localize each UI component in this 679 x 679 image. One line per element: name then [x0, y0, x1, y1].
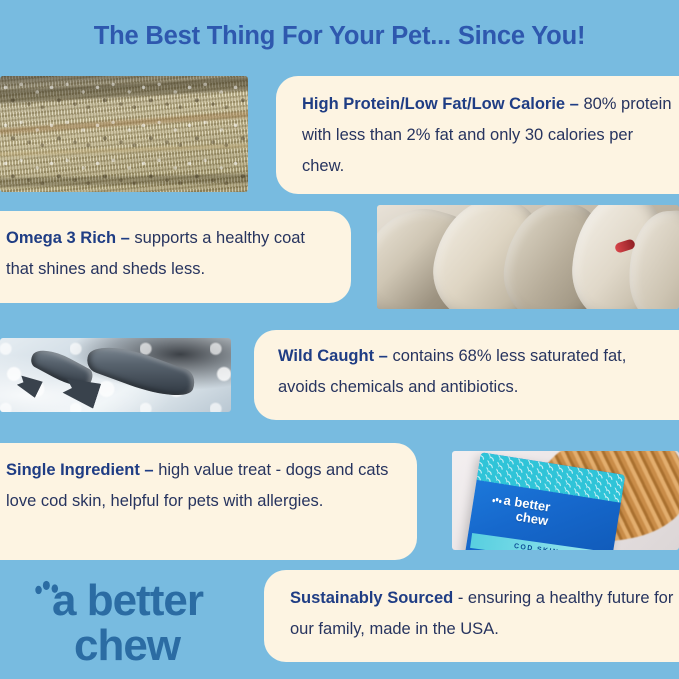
paw-print-icon — [34, 580, 60, 596]
feature-heading-wild-caught: Wild Caught – — [278, 347, 388, 365]
photo-raw-cod-fillets — [377, 205, 679, 309]
package-brand-name: a better chew — [501, 493, 552, 527]
feature-heading-single-ingredient: Single Ingredient – — [6, 461, 154, 479]
feature-card-sustainably-sourced: Sustainably Sourced - ensuring a healthy… — [264, 570, 679, 662]
page-title: The Best Thing For Your Pet... Since You… — [0, 22, 679, 51]
brand-logo: a better chew — [26, 578, 254, 668]
brand-logo-line1: a better — [26, 578, 254, 623]
feature-card-wild-caught: Wild Caught – contains 68% less saturate… — [254, 330, 679, 420]
feature-heading-omega-3-rich: Omega 3 Rich – — [6, 229, 130, 247]
package-flavor-ribbon: COD SKIN — [470, 533, 603, 550]
infographic-root: The Best Thing For Your Pet... Since You… — [0, 0, 679, 679]
photo-cod-skin-chew-macro — [0, 76, 248, 192]
feature-card-high-protein: High Protein/Low Fat/Low Calorie – 80% p… — [276, 76, 679, 194]
paw-print-icon — [491, 497, 504, 510]
photo-wild-salmon-leaping — [0, 338, 231, 412]
texture-speckles — [0, 76, 248, 192]
feature-heading-sustainably-sourced: Sustainably Sourced — [290, 589, 453, 607]
feature-card-single-ingredient: Single Ingredient – high value treat - d… — [0, 443, 417, 560]
photo-product-package-with-dog: a better chew COD SKIN — [452, 451, 679, 550]
brand-logo-line2: chew — [26, 623, 254, 668]
feature-heading-high-protein: High Protein/Low Fat/Low Calorie – — [302, 95, 579, 113]
feature-card-omega-3-rich: Omega 3 Rich – supports a healthy coat t… — [0, 211, 351, 303]
